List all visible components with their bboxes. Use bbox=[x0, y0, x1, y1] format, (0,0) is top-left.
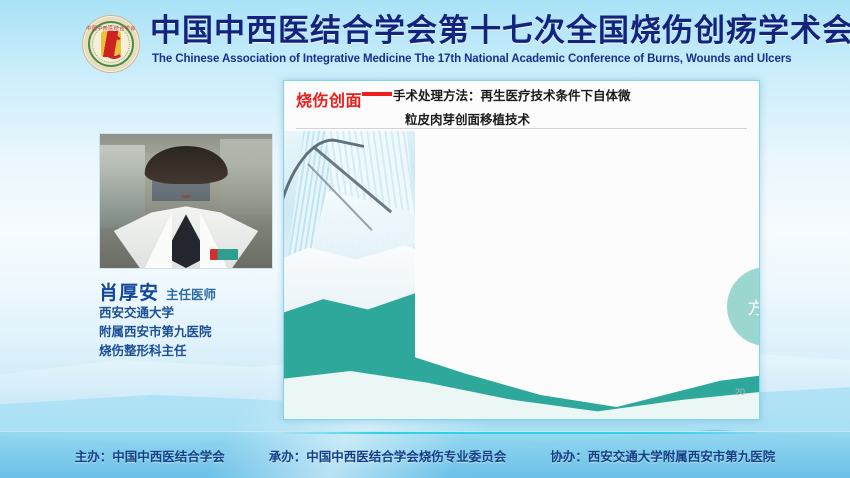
slide-title-dash-icon bbox=[362, 92, 392, 96]
footer-organizer: 主办：中国中西医结合学会 bbox=[75, 446, 225, 465]
logo-emblem bbox=[101, 31, 121, 57]
footer-cooperator: 协办：西安交通大学附属西安市第九医院 bbox=[550, 446, 775, 465]
speaker-name-badge bbox=[210, 249, 238, 260]
speaker-mouth bbox=[181, 195, 190, 198]
slide-title-main-line-1: 手术处理方法：再生医疗技术条件下自体微 bbox=[393, 88, 631, 103]
footer-top-accent-line bbox=[283, 432, 759, 434]
speaker-affiliation-line-2: 附属西安市第九医院 bbox=[99, 322, 212, 341]
slide-hub-circle: 方法 bbox=[727, 267, 760, 346]
conference-broadcast-screen: 中国中西医结合学会 中国中西医结合学会第十七次全国烧伤创疡学术会议 The Ch… bbox=[0, 0, 850, 478]
speaker-name: 肖厚安 bbox=[99, 282, 159, 304]
speaker-affiliation: 西安交通大学 附属西安市第九医院 烧伤整形科主任 bbox=[99, 303, 212, 360]
presentation-slide[interactable]: 烧伤创面手术处理方法：再生医疗技术条件下自体微 粒皮肉芽创面移植技术 方法 bbox=[283, 80, 760, 420]
slide-title-main-line-2: 粒皮肉芽创面移植技术 bbox=[405, 111, 749, 128]
speaker-name-row: 肖厚安主任医师 bbox=[99, 278, 216, 305]
slide-hub-label: 方法 bbox=[748, 294, 761, 319]
conference-title-english: The Chinese Association of Integrative M… bbox=[152, 52, 791, 67]
slide-title-highlight: 烧伤创面 bbox=[296, 91, 362, 110]
footer-undertaker: 承办：中国中西医结合学会烧伤专业委员会 bbox=[269, 446, 507, 465]
conference-title-chinese: 中国中西医结合学会第十七次全国烧伤创疡学术会议 bbox=[150, 13, 850, 49]
slide-title: 烧伤创面手术处理方法：再生医疗技术条件下自体微 粒皮肉芽创面移植技术 bbox=[296, 87, 749, 128]
conference-footer-bar: 主办：中国中西医结合学会 承办：中国中西医结合学会烧伤专业委员会 协办：西安交通… bbox=[0, 431, 850, 478]
association-logo-icon: 中国中西医结合学会 bbox=[82, 15, 140, 73]
footer-credits-row: 主办：中国中西医结合学会 承办：中国中西医结合学会烧伤专业委员会 协办：西安交通… bbox=[0, 432, 850, 478]
speaker-title: 主任医师 bbox=[166, 287, 216, 302]
slide-photo-surgical-masks bbox=[284, 131, 415, 361]
speaker-affiliation-line-1: 西安交通大学 bbox=[99, 303, 212, 322]
slide-canvas: 烧伤创面手术处理方法：再生医疗技术条件下自体微 粒皮肉芽创面移植技术 方法 bbox=[284, 81, 759, 419]
slide-page-number: 20 bbox=[735, 387, 745, 397]
slide-title-divider bbox=[296, 128, 747, 129]
speaker-video-feed[interactable] bbox=[99, 133, 273, 269]
conference-header: 中国中西医结合学会 中国中西医结合学会第十七次全国烧伤创疡学术会议 The Ch… bbox=[0, 0, 850, 78]
speaker-affiliation-line-3: 烧伤整形科主任 bbox=[99, 341, 212, 360]
